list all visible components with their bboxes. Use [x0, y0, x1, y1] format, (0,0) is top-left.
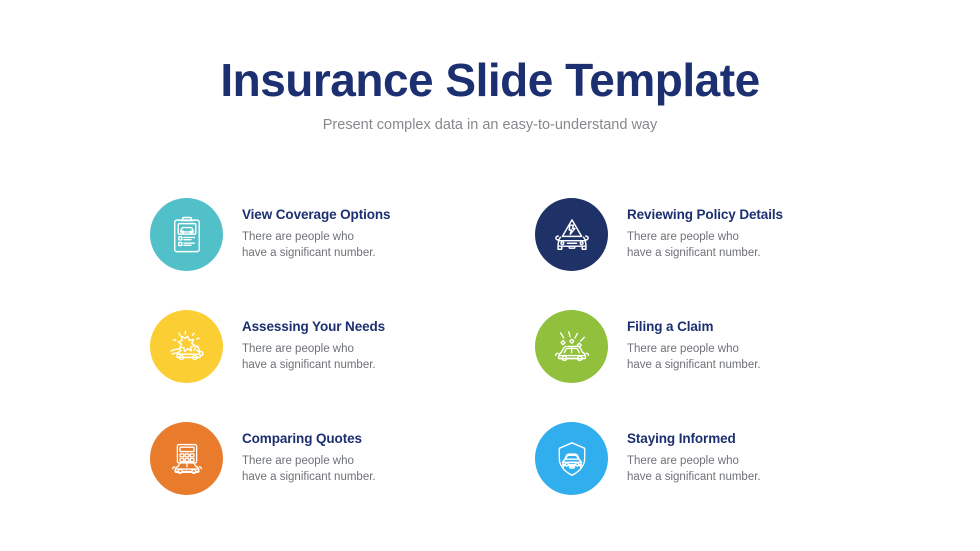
- feature-item-reviewing-policy-details[interactable]: Reviewing Policy Details There are peopl…: [535, 190, 850, 302]
- feature-description: There are people who have a significant …: [242, 230, 390, 261]
- icon-circle-filing-a-claim: [535, 310, 608, 383]
- feature-title: Assessing Your Needs: [242, 318, 385, 336]
- feature-item-view-coverage-options[interactable]: View Coverage Options There are people w…: [150, 190, 535, 302]
- page-subtitle: Present complex data in an easy-to-under…: [0, 115, 980, 135]
- slide-canvas: Insurance Slide Template Present complex…: [0, 0, 980, 551]
- slide-header: Insurance Slide Template Present complex…: [0, 54, 980, 135]
- feature-description: There are people who have a significant …: [242, 454, 376, 485]
- feature-text-reviewing-policy-details: Reviewing Policy Details There are peopl…: [608, 190, 783, 261]
- feature-item-filing-a-claim[interactable]: Filing a Claim There are people who have…: [535, 302, 850, 414]
- car-calculator-icon: [166, 438, 208, 480]
- car-collision-icon: [165, 325, 209, 369]
- icon-circle-assessing-your-needs: [150, 310, 223, 383]
- feature-text-filing-a-claim: Filing a Claim There are people who have…: [608, 302, 761, 373]
- icon-circle-reviewing-policy-details: [535, 198, 608, 271]
- feature-title: Comparing Quotes: [242, 430, 376, 448]
- page-title: Insurance Slide Template: [0, 54, 980, 106]
- car-warning-triangle-icon: [550, 213, 594, 257]
- feature-text-assessing-your-needs: Assessing Your Needs There are people wh…: [223, 302, 385, 373]
- feature-text-comparing-quotes: Comparing Quotes There are people who ha…: [223, 414, 376, 485]
- feature-item-staying-informed[interactable]: Staying Informed There are people who ha…: [535, 414, 850, 526]
- feature-grid: View Coverage Options There are people w…: [150, 190, 850, 526]
- icon-circle-staying-informed: [535, 422, 608, 495]
- feature-title: Staying Informed: [627, 430, 761, 448]
- icon-circle-comparing-quotes: [150, 422, 223, 495]
- feature-title: View Coverage Options: [242, 206, 390, 224]
- clipboard-car-icon: [166, 214, 208, 256]
- feature-text-view-coverage-options: View Coverage Options There are people w…: [223, 190, 390, 261]
- feature-title: Reviewing Policy Details: [627, 206, 783, 224]
- feature-description: There are people who have a significant …: [242, 342, 385, 373]
- feature-description: There are people who have a significant …: [627, 342, 761, 373]
- feature-text-staying-informed: Staying Informed There are people who ha…: [608, 414, 761, 485]
- car-hail-icon: [550, 325, 594, 369]
- feature-description: There are people who have a significant …: [627, 454, 761, 485]
- feature-item-comparing-quotes[interactable]: Comparing Quotes There are people who ha…: [150, 414, 535, 526]
- feature-description: There are people who have a significant …: [627, 230, 783, 261]
- feature-item-assessing-your-needs[interactable]: Assessing Your Needs There are people wh…: [150, 302, 535, 414]
- icon-circle-view-coverage-options: [150, 198, 223, 271]
- car-shield-icon: [551, 438, 593, 480]
- feature-title: Filing a Claim: [627, 318, 761, 336]
